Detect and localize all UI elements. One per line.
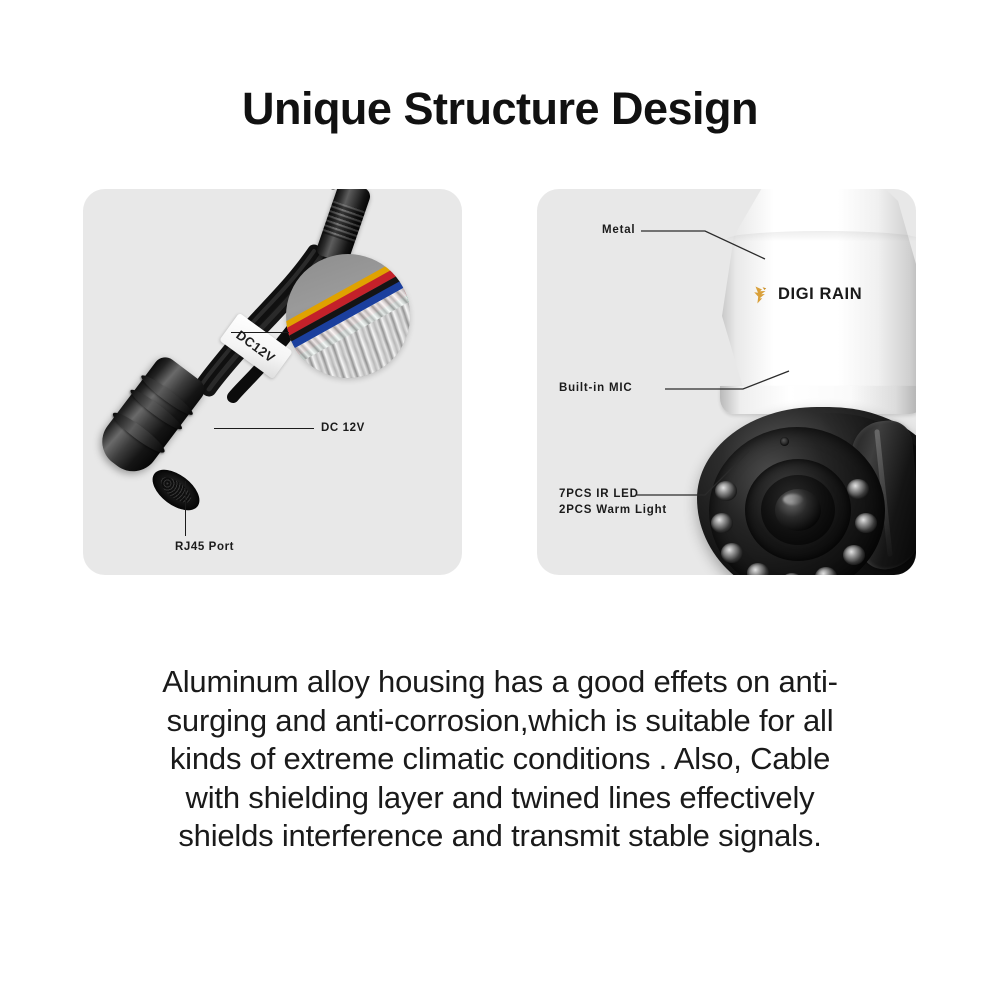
- cable-illustration: DC12V DC 12V RJ45 Port: [83, 189, 462, 575]
- leader-line-dc12v: [214, 428, 314, 429]
- callout-rj45-port: RJ45 Port: [175, 540, 234, 555]
- page-title: Unique Structure Design: [0, 83, 1000, 135]
- callout-built-in-mic: Built-in MIC: [559, 381, 632, 396]
- panel-ptz-camera: DIGI RAIN Metal: [537, 189, 916, 575]
- description-paragraph: Aluminum alloy housing has a good effets…: [150, 663, 850, 856]
- panel-cable-connector: DC12V DC 12V RJ45 Port: [83, 189, 462, 575]
- callout-warm-light: 2PCS Warm Light: [559, 503, 667, 518]
- leader-line-rj45: [185, 481, 186, 536]
- camera-illustration: DIGI RAIN Metal: [537, 189, 916, 575]
- leader-line-shield: [231, 332, 289, 333]
- cable-cross-section-zoom: [286, 254, 410, 378]
- callout-dc-12v: DC 12V: [321, 421, 365, 436]
- callout-metal: Metal: [602, 223, 635, 238]
- callout-ir-led: 7PCS IR LED: [559, 487, 639, 502]
